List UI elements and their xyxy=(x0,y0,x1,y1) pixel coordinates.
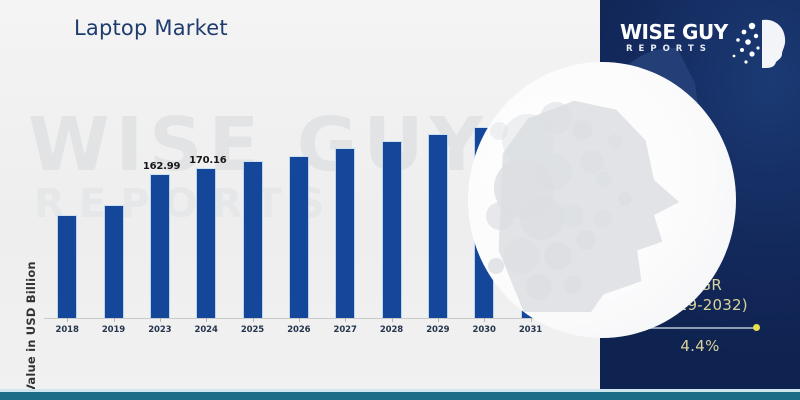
brand-bulge-shape xyxy=(468,62,736,338)
decorative-dot xyxy=(488,258,504,274)
dotted-head-icon xyxy=(732,16,790,70)
bar-rect xyxy=(428,134,448,318)
x-tick xyxy=(253,318,254,322)
decorative-dot xyxy=(596,172,612,188)
bar-2023 xyxy=(150,84,170,318)
bar-2018 xyxy=(57,84,77,318)
x-tick xyxy=(392,318,393,322)
bar-rect xyxy=(243,161,263,318)
decorative-dot xyxy=(536,154,572,190)
decorative-dot xyxy=(572,120,592,140)
bar-rect xyxy=(57,215,77,318)
decorative-dot xyxy=(580,150,604,174)
bar-rect xyxy=(104,205,124,318)
logo-subtitle: REPORTS xyxy=(626,44,712,54)
bar-2027 xyxy=(335,84,355,318)
bottom-strip xyxy=(0,392,800,400)
x-tick-label-2029: 2029 xyxy=(415,325,461,335)
x-tick xyxy=(67,318,68,322)
decorative-dot xyxy=(608,134,622,148)
x-tick-label-2019: 2019 xyxy=(90,325,136,335)
x-tick xyxy=(438,318,439,322)
bar-2028 xyxy=(382,84,402,318)
bulge-artwork xyxy=(468,62,736,338)
bar-rect xyxy=(150,174,170,318)
x-tick xyxy=(206,318,207,322)
x-tick xyxy=(299,318,300,322)
x-tick xyxy=(160,318,161,322)
decorative-dot xyxy=(540,102,572,134)
decorative-dot xyxy=(564,276,582,294)
x-tick-label-2018: 2018 xyxy=(44,325,90,335)
decorative-dot xyxy=(560,204,584,228)
chart-infographic: WISE GUY REPORTS Laptop Market Market Va… xyxy=(0,0,800,400)
bar-2025 xyxy=(243,84,263,318)
x-tick xyxy=(114,318,115,322)
bar-value-label-2023: 162.99 xyxy=(143,161,180,172)
x-tick-label-2027: 2027 xyxy=(322,325,368,335)
x-tick-label-2023: 2023 xyxy=(137,325,183,335)
x-tick-label-2024: 2024 xyxy=(183,325,229,335)
bar-rect xyxy=(335,148,355,318)
decorative-dot xyxy=(504,238,540,274)
x-tick-label-2025: 2025 xyxy=(229,325,275,335)
bar-2024 xyxy=(196,84,216,318)
decorative-dot xyxy=(486,202,514,230)
decorative-dot xyxy=(544,242,572,270)
y-axis-label: Market Value in USD Billion xyxy=(24,258,40,400)
divider-dot-right xyxy=(753,324,760,331)
decorative-dot xyxy=(526,274,552,300)
logo-wordmark: WISE GUY xyxy=(620,20,728,44)
x-tick xyxy=(345,318,346,322)
decorative-dot xyxy=(520,196,564,240)
bar-value-label-2024: 170.16 xyxy=(189,155,226,166)
bar-2019 xyxy=(104,84,124,318)
decorative-dot xyxy=(618,192,632,206)
bar-rect xyxy=(289,156,309,318)
bar-2029 xyxy=(428,84,448,318)
bar-rect xyxy=(382,141,402,318)
x-tick-label-2026: 2026 xyxy=(276,325,322,335)
x-tick-label-2028: 2028 xyxy=(368,325,414,335)
decorative-dot xyxy=(594,210,612,228)
bar-rect xyxy=(196,168,216,318)
decorative-dot xyxy=(490,122,508,140)
page-title: Laptop Market xyxy=(74,16,228,40)
bar-2026 xyxy=(289,84,309,318)
cagr-value: 4.4% xyxy=(600,337,800,355)
decorative-dot xyxy=(576,230,596,250)
